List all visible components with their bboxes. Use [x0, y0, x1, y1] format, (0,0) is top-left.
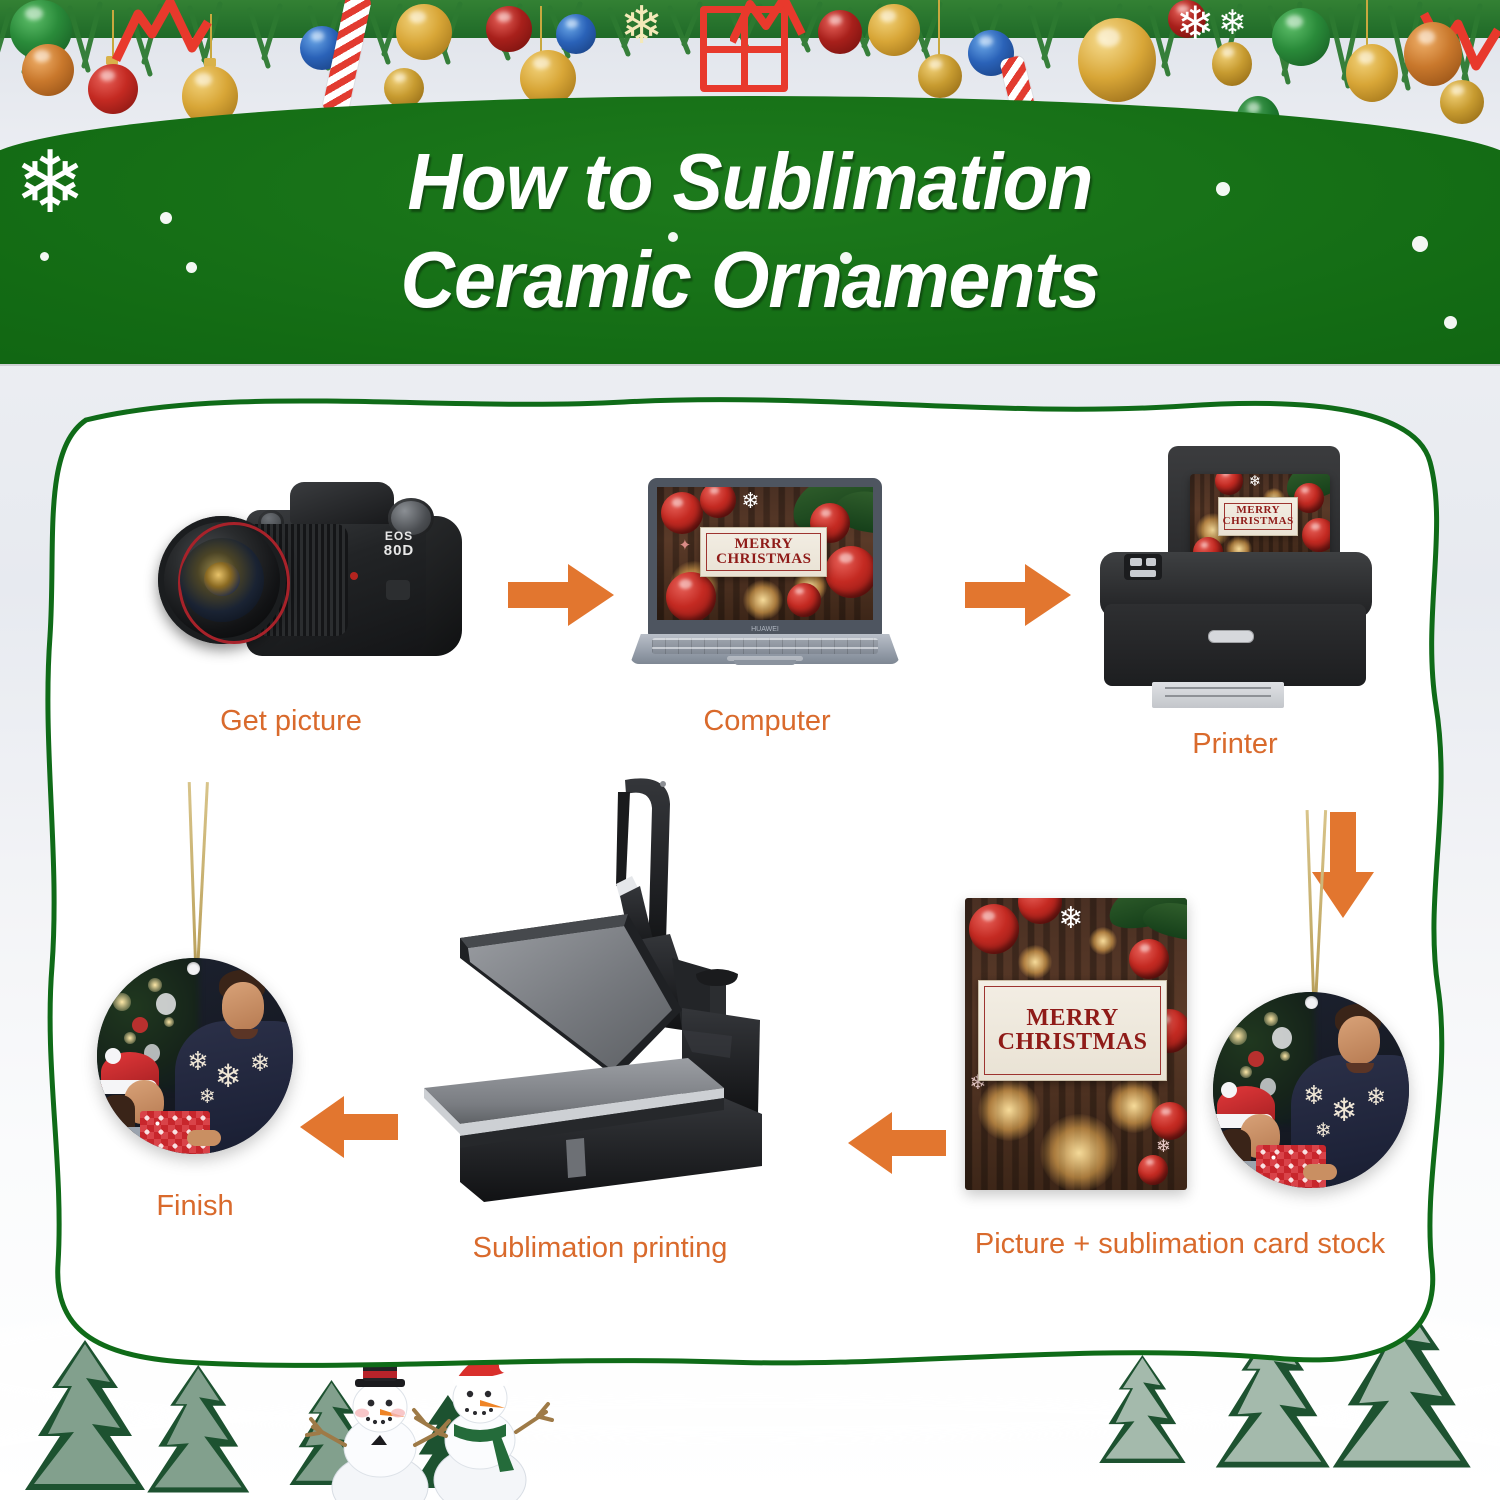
bauble-gold-7 — [1212, 42, 1252, 86]
printed-card-icon: ❄ ❄ ❄ MERRY CHRISTMAS — [965, 898, 1187, 1190]
bauble-gold-2 — [396, 4, 452, 60]
bauble-green-2 — [1272, 8, 1330, 66]
laptop-greeting-line1: MERRY — [716, 537, 811, 552]
arrow-left-icon — [848, 1110, 948, 1176]
bauble-gold-9 — [1440, 80, 1484, 124]
caption-finish: Finish — [90, 1190, 300, 1223]
caption-get-picture: Get picture — [146, 705, 436, 738]
bauble-gold-6 — [918, 54, 962, 98]
caption-computer: Computer — [622, 705, 912, 738]
card-greeting-line2: CHRISTMAS — [998, 1030, 1148, 1054]
printer-icon: ❄ MERRY CHRISTMAS — [1090, 446, 1380, 706]
heat-press-icon — [420, 762, 790, 1202]
bauble-gold-8 — [1346, 44, 1398, 102]
ceramic-ornament-icon: ❄ ❄ ❄ ❄ — [1205, 810, 1435, 1190]
caption-printer: Printer — [1090, 728, 1380, 761]
bauble-bronze-2 — [1404, 22, 1462, 86]
caption-sublimation-printing: Sublimation printing — [400, 1232, 800, 1265]
card-greeting-line1: MERRY — [998, 1006, 1148, 1030]
arrow-right-icon — [965, 562, 1075, 628]
camera-brand-line2: 80D — [366, 544, 432, 557]
page-title: How to Sublimation Ceramic Ornaments — [45, 133, 1455, 329]
caption-card-stock: Picture + sublimation card stock — [900, 1228, 1460, 1261]
page-title-line2: Ceramic Ornaments — [45, 231, 1455, 329]
bauble-gold-5 — [868, 4, 920, 56]
bauble-blue-2 — [556, 14, 596, 54]
laptop-screen: ❄ ✦ MERRY CHRISTMAS — [657, 487, 873, 620]
laptop-icon: ❄ ✦ MERRY CHRISTMAS HUAWEI — [630, 478, 900, 668]
bauble-gold-large — [1078, 18, 1156, 102]
finished-ornament-icon: ❄ ❄ ❄ ❄ — [95, 782, 325, 1162]
laptop-brand: HUAWEI — [648, 626, 882, 633]
bauble-red-3 — [818, 10, 862, 54]
printed-photo: ❄ MERRY CHRISTMAS — [1190, 474, 1330, 562]
bauble-red-2 — [486, 6, 532, 52]
ornament-photo: ❄ ❄ ❄ ❄ — [1213, 992, 1409, 1188]
infographic-canvas: ❄ ❄ ❄ ❄ Ho — [0, 0, 1500, 1500]
ornament-photo: ❄ ❄ ❄ ❄ — [97, 958, 293, 1154]
dslr-camera-icon: EOS 80D — [150, 476, 470, 676]
printed-greeting-line2: CHRISTMAS — [1223, 516, 1294, 527]
bauble-bronze — [22, 44, 74, 96]
laptop-greeting-line2: CHRISTMAS — [716, 552, 811, 567]
arrow-right-icon — [508, 562, 618, 628]
page-title-line1: How to Sublimation — [408, 137, 1093, 226]
